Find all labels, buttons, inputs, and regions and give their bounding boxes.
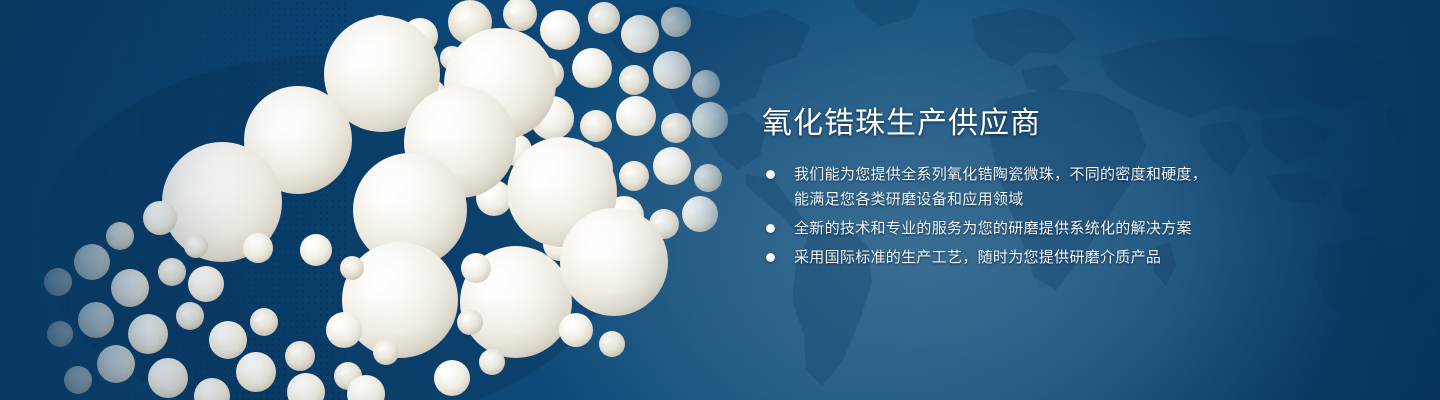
benefit-item: 我们能为您提供全系列氧化锆陶瓷微珠，不同的密度和硬度， 能满足您各类研磨设备和应… bbox=[762, 162, 1282, 212]
bullet-dot-icon bbox=[766, 224, 775, 233]
zirconia-beads-image bbox=[0, 0, 760, 400]
benefit-item: 采用国际标准的生产工艺，随时为您提供研磨介质产品 bbox=[762, 245, 1282, 270]
benefit-item: 全新的技术和专业的服务为您的研磨提供系统化的解决方案 bbox=[762, 216, 1282, 241]
benefits-list: 我们能为您提供全系列氧化锆陶瓷微珠，不同的密度和硬度， 能满足您各类研磨设备和应… bbox=[762, 162, 1282, 270]
benefit-line: 全新的技术和专业的服务为您的研磨提供系统化的解决方案 bbox=[794, 216, 1282, 241]
bullet-dot-icon bbox=[766, 170, 775, 179]
benefit-line: 我们能为您提供全系列氧化锆陶瓷微珠，不同的密度和硬度， bbox=[794, 162, 1282, 187]
banner-headline: 氧化锆珠生产供应商 bbox=[762, 104, 1282, 144]
benefit-line: 能满足您各类研磨设备和应用领域 bbox=[794, 187, 1282, 212]
banner-content: 氧化锆珠生产供应商 我们能为您提供全系列氧化锆陶瓷微珠，不同的密度和硬度， 能满… bbox=[762, 104, 1282, 274]
hero-banner: 氧化锆珠生产供应商 我们能为您提供全系列氧化锆陶瓷微珠，不同的密度和硬度， 能满… bbox=[0, 0, 1440, 400]
benefit-line: 采用国际标准的生产工艺，随时为您提供研磨介质产品 bbox=[794, 245, 1282, 270]
bullet-dot-icon bbox=[766, 253, 775, 262]
